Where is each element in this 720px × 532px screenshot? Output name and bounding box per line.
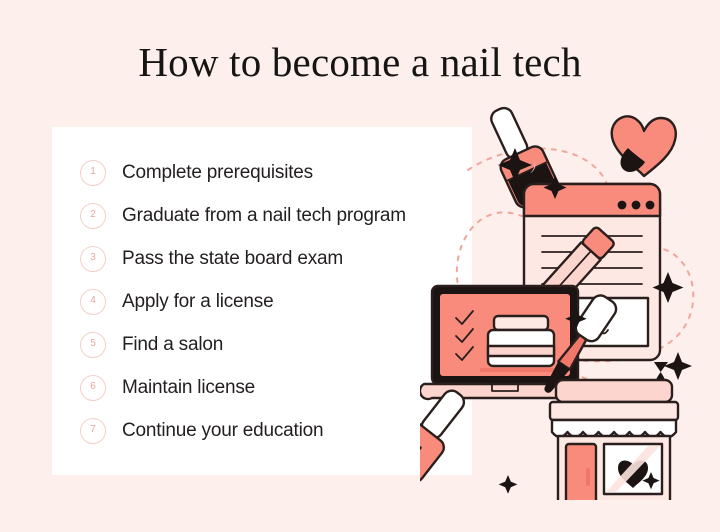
salon-storefront-icon bbox=[550, 380, 678, 500]
step-label: Find a salon bbox=[122, 334, 223, 356]
heart-icon bbox=[612, 116, 676, 176]
step-number-badge: 5 bbox=[80, 332, 106, 358]
step-label: Pass the state board exam bbox=[122, 248, 343, 270]
step-label: Apply for a license bbox=[122, 291, 273, 313]
list-item: 4 Apply for a license bbox=[80, 282, 472, 322]
list-item: 2 Graduate from a nail tech program bbox=[80, 196, 472, 236]
list-item: 5 Find a salon bbox=[80, 325, 472, 365]
step-number-badge: 3 bbox=[80, 246, 106, 272]
step-number-badge: 7 bbox=[80, 418, 106, 444]
step-number-badge: 2 bbox=[80, 203, 106, 229]
step-number-badge: 6 bbox=[80, 375, 106, 401]
list-item: 3 Pass the state board exam bbox=[80, 239, 472, 279]
infographic-canvas: How to become a nail tech 1 Complete pre… bbox=[0, 0, 720, 532]
step-number-badge: 4 bbox=[80, 289, 106, 315]
list-item: 1 Complete prerequisites bbox=[80, 153, 472, 193]
list-item: 6 Maintain license bbox=[80, 368, 472, 408]
step-number-badge: 1 bbox=[80, 160, 106, 186]
step-label: Graduate from a nail tech program bbox=[122, 205, 406, 227]
step-label: Continue your education bbox=[122, 420, 323, 442]
steps-list: 1 Complete prerequisites 2 Graduate from… bbox=[80, 153, 472, 454]
list-item: 7 Continue your education bbox=[80, 411, 472, 451]
illustration: .ol { stroke: #2b1f1d; stroke-width: 2.4… bbox=[420, 100, 720, 500]
step-label: Complete prerequisites bbox=[122, 162, 313, 184]
step-label: Maintain license bbox=[122, 377, 255, 399]
steps-card: 1 Complete prerequisites 2 Graduate from… bbox=[52, 127, 472, 475]
page-title: How to become a nail tech bbox=[0, 38, 720, 86]
